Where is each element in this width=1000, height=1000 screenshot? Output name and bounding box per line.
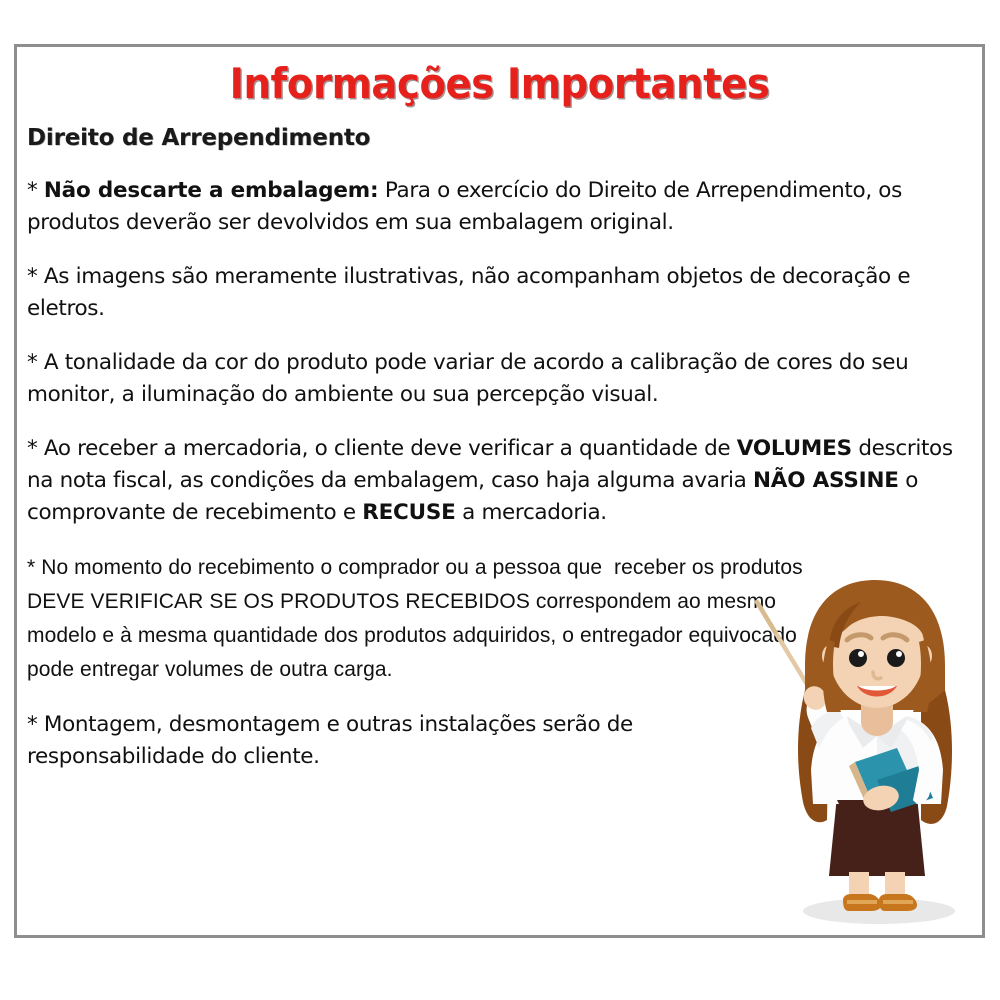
important-information-card: Informações Importantes Direito de Arrep… [14, 44, 985, 938]
paragraph-text-volumes-d: a mercadoria. [456, 500, 607, 525]
card-inner: Informações Importantes Direito de Arrep… [17, 47, 982, 935]
paragraph-check-volumes-on-delivery: * Ao receber a mercadoria, o cliente dev… [27, 433, 983, 529]
eye-left-shape [849, 649, 867, 667]
paragraph-illustrative-images: * As imagens são meramente ilustrativas,… [27, 261, 983, 325]
teacher-pointing-illustration [751, 570, 976, 935]
paragraph-emphasis-refuse: RECUSE [362, 500, 455, 525]
paragraph-color-tonality: * A tonalidade da cor do produto pode va… [27, 347, 983, 411]
paragraph-assembly-responsibility: * Montagem, desmontagem e outras instala… [27, 709, 797, 773]
eye-right-highlight [896, 651, 902, 657]
paragraph-emphasis-do-not-discard: Não descarte a embalagem: [44, 178, 378, 203]
paragraph-text-volumes-a: * Ao receber a mercadoria, o cliente dev… [27, 436, 737, 461]
section-heading-right-of-withdrawal: Direito de Arrependimento [27, 125, 370, 151]
shoe-left-strap [847, 900, 877, 904]
page-root: Informações Importantes Direito de Arrep… [0, 0, 1000, 1000]
paragraph-bullet-marker: * [27, 178, 44, 203]
eye-left-highlight [858, 651, 864, 657]
eye-right-shape [887, 649, 905, 667]
paragraph-do-not-discard-packaging: * Não descarte a embalagem: Para o exerc… [27, 175, 983, 239]
page-title: Informações Importantes [56, 59, 944, 108]
shoe-right-strap [883, 900, 913, 904]
paragraph-verify-products-received: * No momento do recebimento o comprador … [27, 551, 817, 687]
paragraph-emphasis-do-not-sign: NÃO ASSINE [753, 468, 899, 493]
paragraph-emphasis-volumes: VOLUMES [737, 436, 852, 461]
